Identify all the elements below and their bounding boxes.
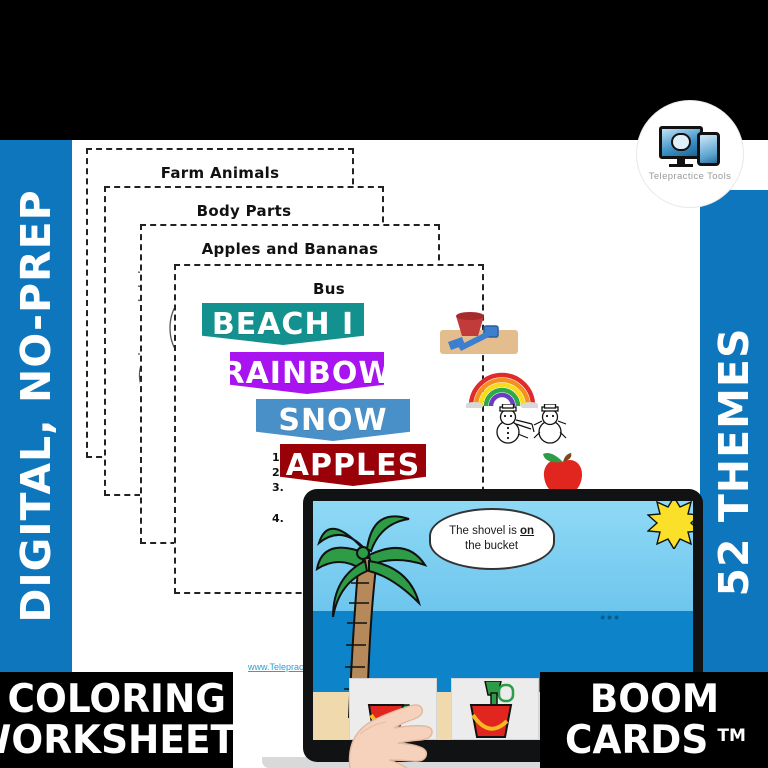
- shovel-on-bucket-icon: [459, 681, 531, 739]
- ellipsis-icon: •••: [600, 609, 621, 625]
- sun-icon: [647, 501, 693, 549]
- pointing-hand: [330, 672, 456, 768]
- speech-bubble: The shovel is on the bucket: [429, 508, 555, 570]
- snowmen-icon: [488, 404, 578, 446]
- side-band-digital-no-prep: DIGITAL, NO-PREP: [0, 140, 72, 672]
- badge-left-line1: COLORING: [7, 679, 225, 720]
- badge-coloring-worksheets: COLORING WORKSHEETS: [0, 672, 233, 768]
- trademark-symbol: TM: [717, 720, 746, 746]
- theme-banner-label: BEACH I: [212, 307, 354, 342]
- poster-canvas: Farm Animals 1. 2. 3. 4. Body Parts: [0, 0, 768, 768]
- badge-boom-cards: BOOM CARDS TM: [540, 672, 768, 768]
- brand-logo-badge[interactable]: Telepractice Tools: [637, 101, 743, 207]
- brand-name: Telepractice Tools: [649, 171, 732, 182]
- worksheet-title: Farm Animals: [88, 164, 352, 182]
- worksheet-title: Body Parts: [106, 202, 382, 220]
- side-band-right-label: 52 THEMES: [710, 327, 758, 596]
- bubble-text-prefix: The shovel is: [449, 525, 520, 537]
- bubble-text-keyword: on: [520, 525, 534, 537]
- sand-bucket-shovel-icon: [440, 310, 518, 360]
- tablet-icon: [697, 132, 720, 166]
- badge-left-line2: WORKSHEETS: [0, 720, 263, 761]
- rainbow-icon: [466, 368, 538, 408]
- headset-icon: [671, 133, 691, 151]
- worksheet-title: Bus: [176, 280, 482, 298]
- telepractice-device-icon: [659, 126, 721, 166]
- badge-right-line1: BOOM: [589, 679, 718, 720]
- theme-banner-label: SNOW: [278, 403, 387, 438]
- badge-right-row: CARDS TM: [562, 720, 746, 761]
- badge-right-line2: CARDS: [565, 720, 708, 761]
- bubble-text-suffix: the bucket: [465, 540, 518, 552]
- side-band-left-label: DIGITAL, NO-PREP: [12, 189, 60, 622]
- answer-choice-2[interactable]: [451, 678, 539, 740]
- worksheet-title: Apples and Bananas: [142, 240, 438, 258]
- theme-banner-label: RAINBOW: [221, 356, 392, 391]
- monitor-base-icon: [669, 164, 693, 167]
- theme-banner-label: APPLES: [286, 448, 420, 483]
